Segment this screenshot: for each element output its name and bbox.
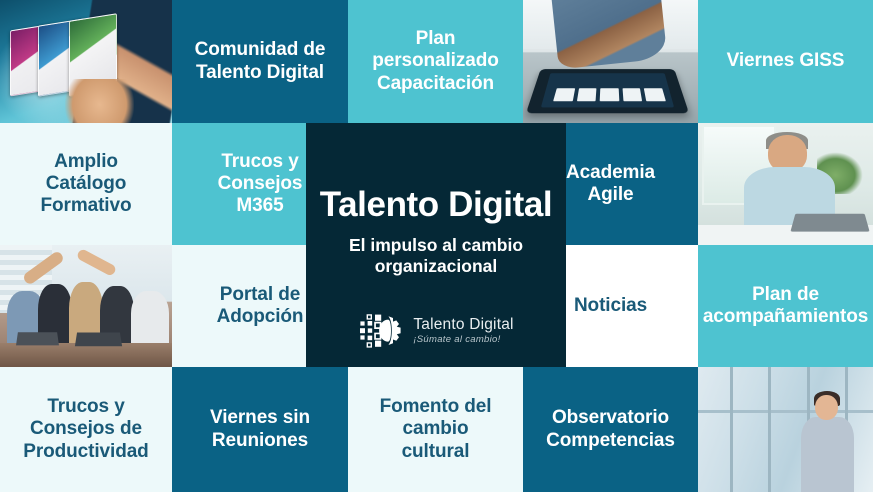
tile-comunidad[interactable]: Comunidad de Talento Digital bbox=[172, 0, 348, 123]
tile-label: Comunidad de Talento Digital bbox=[189, 39, 332, 83]
tile-label: Portal de Adopción bbox=[211, 284, 310, 328]
tile-label: Trucos y Consejos de Productividad bbox=[17, 396, 154, 462]
tile-observatorio[interactable]: Observatorio Competencias bbox=[523, 367, 698, 492]
devices-in-hand-image bbox=[0, 0, 172, 123]
tile-plan-personalizado[interactable]: Plan personalizado Capacitación bbox=[348, 0, 523, 123]
tile-viernes-giss[interactable]: Viernes GISS bbox=[698, 0, 873, 123]
tile-label: Amplio Catálogo Formativo bbox=[35, 151, 138, 217]
tile-label: Viernes GISS bbox=[721, 50, 851, 72]
tile-label: Fomento del cambio cultural bbox=[374, 396, 498, 462]
tile-plan-acompanamientos[interactable]: Plan de acompañamientos bbox=[698, 245, 873, 367]
tile-trucos-productividad[interactable]: Trucos y Consejos de Productividad bbox=[0, 367, 172, 492]
team-high-five-image bbox=[0, 245, 172, 367]
tile-label: Plan de acompañamientos bbox=[698, 284, 873, 328]
tile-label: Observatorio Competencias bbox=[540, 407, 681, 451]
tile-devices-photo[interactable] bbox=[0, 0, 172, 123]
tile-man-laptop-photo[interactable] bbox=[698, 123, 873, 245]
man-at-laptop-image bbox=[698, 123, 873, 245]
brand-logo: Talento Digital ¡Súmate al cambio! bbox=[358, 312, 513, 350]
tile-fomento-cambio[interactable]: Fomento del cambio cultural bbox=[348, 367, 523, 492]
tile-team-highfive-photo[interactable] bbox=[0, 245, 172, 367]
tile-label: Academia Agile bbox=[560, 162, 661, 206]
tile-label: Noticias bbox=[568, 295, 653, 317]
talento-digital-tile-board: Comunidad de Talento DigitalPlan persona… bbox=[0, 0, 873, 492]
tile-amplio-catalogo[interactable]: Amplio Catálogo Formativo bbox=[0, 123, 172, 245]
brand-logo-wordmark: Talento Digital bbox=[413, 317, 513, 333]
tile-viernes-sin-reuniones[interactable]: Viernes sin Reuniones bbox=[172, 367, 348, 492]
brand-logo-tagline: ¡Súmate al cambio! bbox=[413, 335, 513, 345]
brand-title: Talento Digital bbox=[320, 187, 553, 222]
finger-on-tablet-image bbox=[523, 0, 698, 123]
tile-woman-window-photo[interactable] bbox=[698, 367, 873, 492]
brand-logo-words: Talento Digital ¡Súmate al cambio! bbox=[413, 317, 513, 345]
tile-label: Plan personalizado Capacitación bbox=[366, 28, 504, 94]
woman-by-window-image bbox=[698, 367, 873, 492]
brand-subtitle: El impulso al cambio organizacional bbox=[349, 235, 523, 278]
tile-label: Trucos y Consejos M365 bbox=[212, 151, 309, 217]
center-brand-panel: Talento Digital El impulso al cambio org… bbox=[306, 123, 566, 367]
tile-label: Viernes sin Reuniones bbox=[204, 407, 316, 451]
tile-tablet-photo[interactable] bbox=[523, 0, 698, 123]
pixel-gear-logo-icon bbox=[358, 312, 404, 350]
